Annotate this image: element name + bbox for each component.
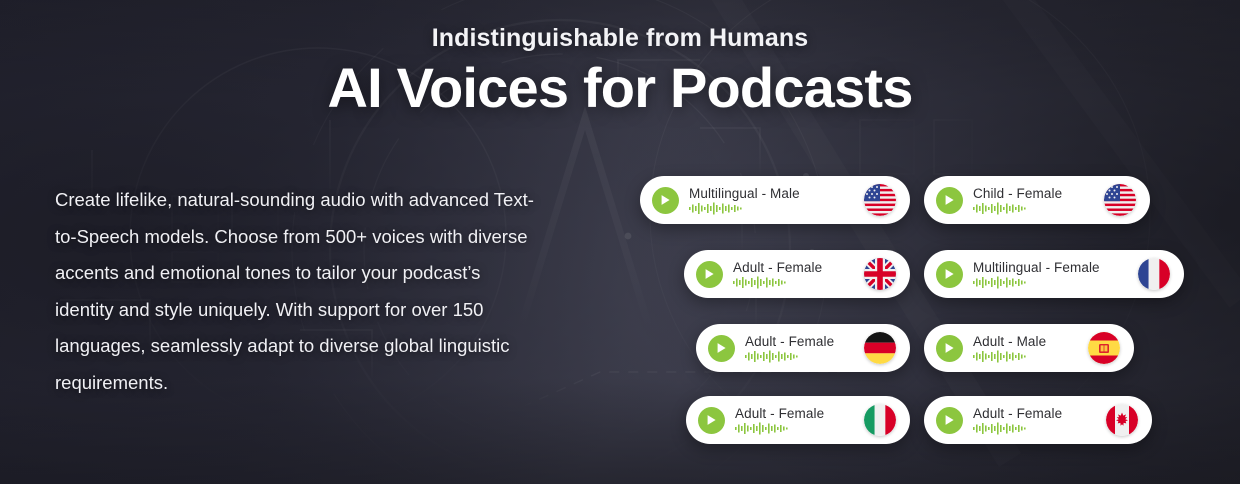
play-icon[interactable] [936, 261, 963, 288]
voice-pill[interactable]: Multilingual - Male [640, 176, 910, 224]
voice-label: Multilingual - Female [973, 260, 1130, 275]
waveform-icon [973, 422, 1031, 435]
voice-label: Adult - Female [745, 334, 856, 349]
voice-pill[interactable]: Child - Female [924, 176, 1150, 224]
waveform-icon [973, 350, 1031, 363]
hero-heading-block: Indistinguishable from Humans AI Voices … [0, 24, 1240, 119]
voice-info: Adult - Female [735, 406, 856, 435]
voice-label: Adult - Female [973, 406, 1098, 421]
waveform-icon [735, 422, 793, 435]
page-title: AI Voices for Podcasts [0, 57, 1240, 119]
voice-row-1: Multilingual - Male [624, 176, 1224, 224]
play-icon[interactable] [708, 335, 735, 362]
play-icon[interactable] [652, 187, 679, 214]
voice-label: Multilingual - Male [689, 186, 856, 201]
waveform-icon [973, 202, 1031, 215]
ca-flag-icon [1106, 404, 1138, 436]
us-flag-icon [1104, 184, 1136, 216]
voice-pill[interactable]: Multilingual - Female [924, 250, 1184, 298]
voice-info: Multilingual - Female [973, 260, 1130, 289]
voice-label: Adult - Male [973, 334, 1080, 349]
voice-info: Multilingual - Male [689, 186, 856, 215]
voice-row-2: Adult - Female [624, 250, 1224, 298]
play-icon[interactable] [698, 407, 725, 434]
voice-info: Adult - Female [733, 260, 856, 289]
us-flag-icon [864, 184, 896, 216]
voice-label: Adult - Female [735, 406, 856, 421]
waveform-icon [733, 276, 791, 289]
voice-info: Adult - Female [745, 334, 856, 363]
voice-label: Adult - Female [733, 260, 856, 275]
voice-label: Child - Female [973, 186, 1096, 201]
fr-flag-icon [1138, 258, 1170, 290]
waveform-icon [689, 202, 747, 215]
play-icon[interactable] [936, 335, 963, 362]
play-icon[interactable] [936, 187, 963, 214]
voice-pill[interactable]: Adult - Female [686, 396, 910, 444]
hero-paragraph: Create lifelike, natural-sounding audio … [55, 182, 535, 401]
hero-section: Indistinguishable from Humans AI Voices … [0, 0, 1240, 484]
gb-flag-icon [864, 258, 896, 290]
play-icon[interactable] [936, 407, 963, 434]
voice-info: Adult - Male [973, 334, 1080, 363]
it-flag-icon [864, 404, 896, 436]
es-flag-icon [1088, 332, 1120, 364]
voice-pill[interactable]: Adult - Male [924, 324, 1134, 372]
hero-eyebrow: Indistinguishable from Humans [0, 24, 1240, 53]
waveform-icon [745, 350, 803, 363]
waveform-icon [973, 276, 1031, 289]
voice-row-3: Adult - Female [624, 324, 1224, 372]
voice-pill[interactable]: Adult - Female [924, 396, 1152, 444]
de-flag-icon [864, 332, 896, 364]
voice-info: Child - Female [973, 186, 1096, 215]
voice-sample-list: Multilingual - Male [624, 176, 1224, 456]
voice-info: Adult - Female [973, 406, 1098, 435]
play-icon[interactable] [696, 261, 723, 288]
voice-pill[interactable]: Adult - Female [696, 324, 910, 372]
voice-row-4: Adult - Female [624, 396, 1224, 444]
voice-pill[interactable]: Adult - Female [684, 250, 910, 298]
